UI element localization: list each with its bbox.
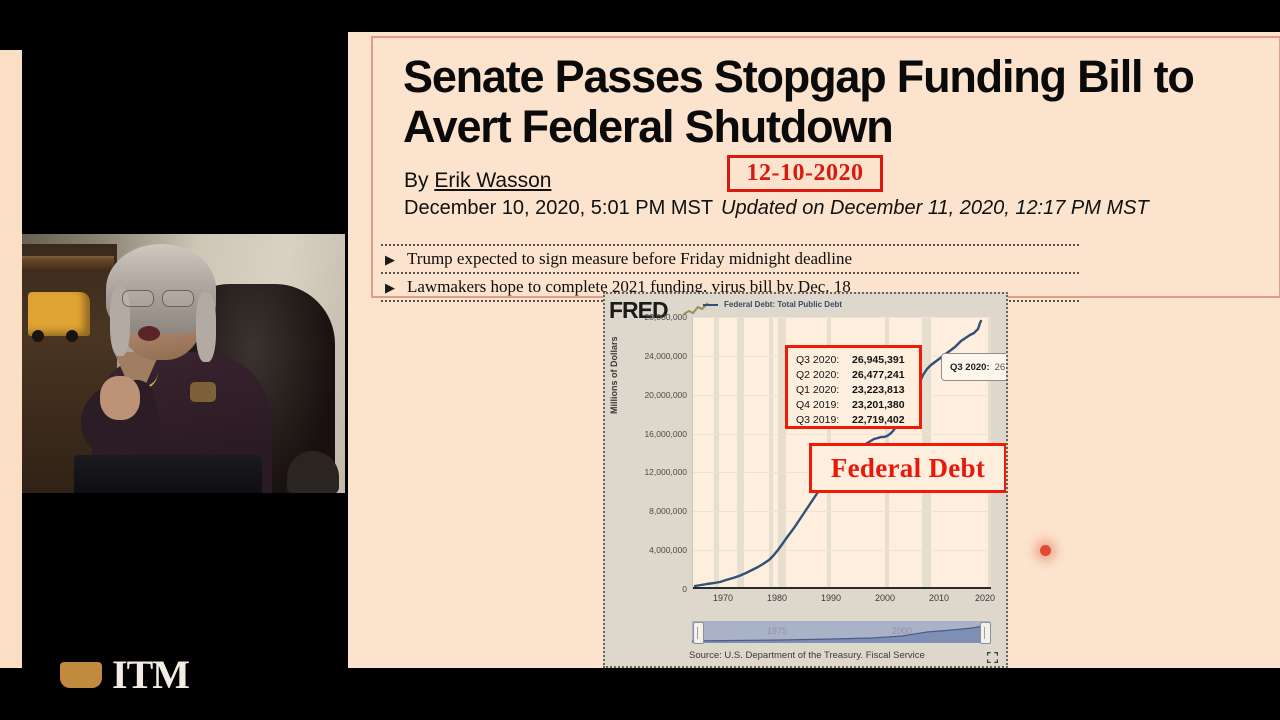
x-tick: 2000 (875, 593, 895, 603)
brooch-pin (190, 382, 216, 402)
chart-legend: Federal Debt: Total Public Debt (703, 300, 842, 309)
triangle-right-icon: ▶ (385, 281, 395, 294)
range-year-right: 2000 (892, 626, 912, 636)
divider (381, 272, 1079, 274)
expand-icon[interactable] (987, 652, 998, 663)
table-row: Q3 2020: 26,945,391 (796, 353, 919, 368)
quarter-value: 26,945,391 (852, 353, 905, 368)
page-title: Senate Passes Stopgap Funding Bill to Av… (403, 52, 1280, 152)
y-axis-ticks: 0 4,000,000 8,000,000 12,000,000 16,000,… (623, 317, 689, 589)
presentation-slide: Senate Passes Stopgap Funding Bill to Av… (348, 32, 1280, 668)
byline: By Erik Wasson (404, 169, 551, 193)
quarter-value: 26,477,241 (852, 368, 905, 383)
quarter-label: Q4 2019: (796, 398, 852, 413)
y-tick: 16,000,000 (644, 429, 687, 439)
y-tick: 20,000,000 (644, 390, 687, 400)
chart-source-text: Source: U.S. Department of the Treasury.… (689, 650, 925, 661)
quarter-label: Q1 2020: (796, 383, 852, 398)
debt-values-annotation: Q3 2020: 26,945,391 Q2 2020: 26,477,241 … (785, 345, 922, 429)
date-stamp-annotation: 12-10-2020 (727, 155, 883, 192)
triangle-right-icon: ▶ (385, 253, 395, 266)
x-axis-ticks: 1970 1980 1990 2000 2010 2020 (692, 593, 990, 609)
range-year-left: 1975 (767, 626, 787, 636)
y-tick: 8,000,000 (649, 506, 687, 516)
quarter-value: 22,719,402 (852, 413, 905, 428)
range-handle-left[interactable] (693, 622, 704, 644)
published-date: December 10, 2020, 5:01 PM MST (404, 197, 713, 219)
legend-swatch (703, 304, 718, 306)
tooltip-value: 26,945,391 (995, 362, 1008, 373)
divider (381, 244, 1079, 246)
x-tick: 1980 (767, 593, 787, 603)
y-tick: 0 (682, 584, 687, 594)
y-axis-title: Millions of Dollars (609, 336, 619, 414)
y-tick: 24,000,000 (644, 351, 687, 361)
presenter-video-feed[interactable] (22, 234, 345, 501)
brand-logo-left: ITM (60, 655, 189, 695)
table-row: Q1 2020: 23,223,813 (796, 383, 919, 398)
chart-tooltip: Q3 2020: 26,945,391 (941, 353, 1008, 381)
y-tick: 12,000,000 (644, 467, 687, 477)
brand-name-left: ITM (112, 655, 189, 695)
updated-date: Updated on December 11, 2020, 12:17 PM M… (721, 197, 1149, 219)
quarter-label: Q3 2020: (796, 353, 852, 368)
news-article-card: Senate Passes Stopgap Funding Bill to Av… (371, 36, 1280, 298)
legend-label: Federal Debt: Total Public Debt (724, 300, 842, 309)
left-edge-strip (0, 50, 22, 668)
toy-school-bus (28, 292, 90, 336)
table-row: Q4 2019: 23,201,380 (796, 398, 919, 413)
quarter-label: Q2 2020: (796, 368, 852, 383)
chart-plot-area[interactable]: Q3 2020: 26,945,391 Q2 2020: 26,477,241 … (692, 317, 991, 589)
table-row: Q3 2019: 22,719,402 (796, 413, 919, 428)
y-tick: 4,000,000 (649, 545, 687, 555)
y-tick: 28,000,000 (644, 312, 687, 322)
quarter-value: 23,223,813 (852, 383, 905, 398)
video-letterbox-bar (22, 493, 345, 501)
presenter-hair (106, 244, 216, 334)
federal-debt-annotation: Federal Debt (809, 443, 1007, 493)
quarter-label: Q3 2019: (796, 413, 852, 428)
range-slider-preview (692, 621, 990, 643)
chart-range-slider[interactable]: 1975 2000 (692, 621, 990, 643)
video-desk-ledge (22, 256, 114, 272)
range-handle-right[interactable] (980, 622, 991, 644)
x-axis-line (693, 587, 991, 589)
screen: ITM Senate Passes Stopgap Funding Bill t… (0, 0, 1280, 720)
list-item-label: Trump expected to sign measure before Fr… (407, 249, 852, 269)
mouth (138, 326, 160, 341)
author-link[interactable]: Erik Wasson (434, 169, 551, 192)
microphone (287, 451, 339, 495)
federal-debt-annotation-label: Federal Debt (831, 453, 985, 484)
table-row: Q2 2020: 26,477,241 (796, 368, 919, 383)
brand-mark-icon (60, 662, 102, 688)
quarter-value: 23,201,380 (852, 398, 905, 413)
cursor-click-indicator (1040, 545, 1051, 556)
list-item: ▶ Trump expected to sign measure before … (381, 246, 1079, 272)
x-tick: 1990 (821, 593, 841, 603)
x-tick: 2020 (975, 593, 995, 603)
eyeglasses (120, 290, 196, 306)
fred-chart[interactable]: FRED Federal Debt: Total Public Debt Mil… (603, 292, 1008, 668)
x-tick: 2010 (929, 593, 949, 603)
byline-prefix: By (404, 169, 434, 192)
timestamps: December 10, 2020, 5:01 PM MSTUpdated on… (404, 197, 1149, 220)
x-tick: 1970 (713, 593, 733, 603)
presenter-hand (100, 376, 140, 420)
tooltip-quarter: Q3 2020: (950, 362, 990, 373)
